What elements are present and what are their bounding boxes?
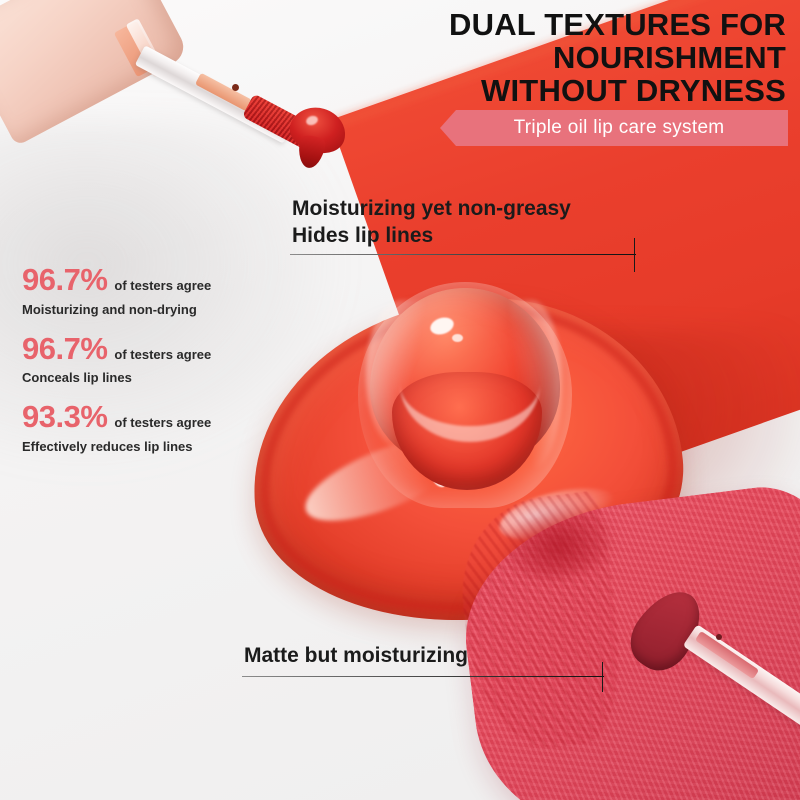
stat-percent: 96.7% xyxy=(22,264,107,297)
stat-item: 96.7% of testers agree Moisturizing and … xyxy=(22,264,290,317)
subtitle-banner: Triple oil lip care system xyxy=(440,110,788,146)
headline-line-1: DUAL TEXTURES FOR xyxy=(266,8,786,41)
callout-bottom-label: Matte but moisturizing xyxy=(244,644,468,668)
callout-top-leader-line xyxy=(290,254,636,255)
stat-description: Moisturizing and non-drying xyxy=(22,302,290,317)
gloss-wand-dot xyxy=(232,84,239,91)
stat-percent: 93.3% xyxy=(22,401,107,434)
stat-item: 96.7% of testers agree Conceals lip line… xyxy=(22,333,290,386)
stat-agree-label: of testers agree xyxy=(114,278,211,293)
stat-description: Effectively reduces lip lines xyxy=(22,439,290,454)
page-title: DUAL TEXTURES FOR NOURISHMENT WITHOUT DR… xyxy=(266,8,786,107)
callout-bottom-leader-line xyxy=(242,676,604,677)
gel-droplet-specular-2 xyxy=(452,334,463,342)
matte-applicator-wand-dot xyxy=(716,634,722,640)
headline-line-3: WITHOUT DRYNESS xyxy=(266,74,786,107)
callout-top: Moisturizing yet non-greasy Hides lip li… xyxy=(292,196,642,250)
stats-list: 96.7% of testers agree Moisturizing and … xyxy=(22,264,290,470)
callout-bottom-leader-tick xyxy=(602,662,603,692)
headline-line-2: NOURISHMENT xyxy=(266,41,786,74)
stat-item: 93.3% of testers agree Effectively reduc… xyxy=(22,401,290,454)
callout-top-leader-tick xyxy=(634,238,635,272)
callout-bottom: Matte but moisturizing xyxy=(244,644,468,668)
stat-agree-label: of testers agree xyxy=(114,415,211,430)
stat-percent: 96.7% xyxy=(22,333,107,366)
callout-top-line-2: Hides lip lines xyxy=(292,223,642,250)
subtitle-banner-label: Triple oil lip care system xyxy=(504,117,725,139)
callout-top-line-1: Moisturizing yet non-greasy xyxy=(292,196,642,223)
product-ad-canvas: DUAL TEXTURES FOR NOURISHMENT WITHOUT DR… xyxy=(0,0,800,800)
stat-description: Conceals lip lines xyxy=(22,370,290,385)
gel-droplet-gloss-shell xyxy=(358,282,572,508)
stat-agree-label: of testers agree xyxy=(114,347,211,362)
